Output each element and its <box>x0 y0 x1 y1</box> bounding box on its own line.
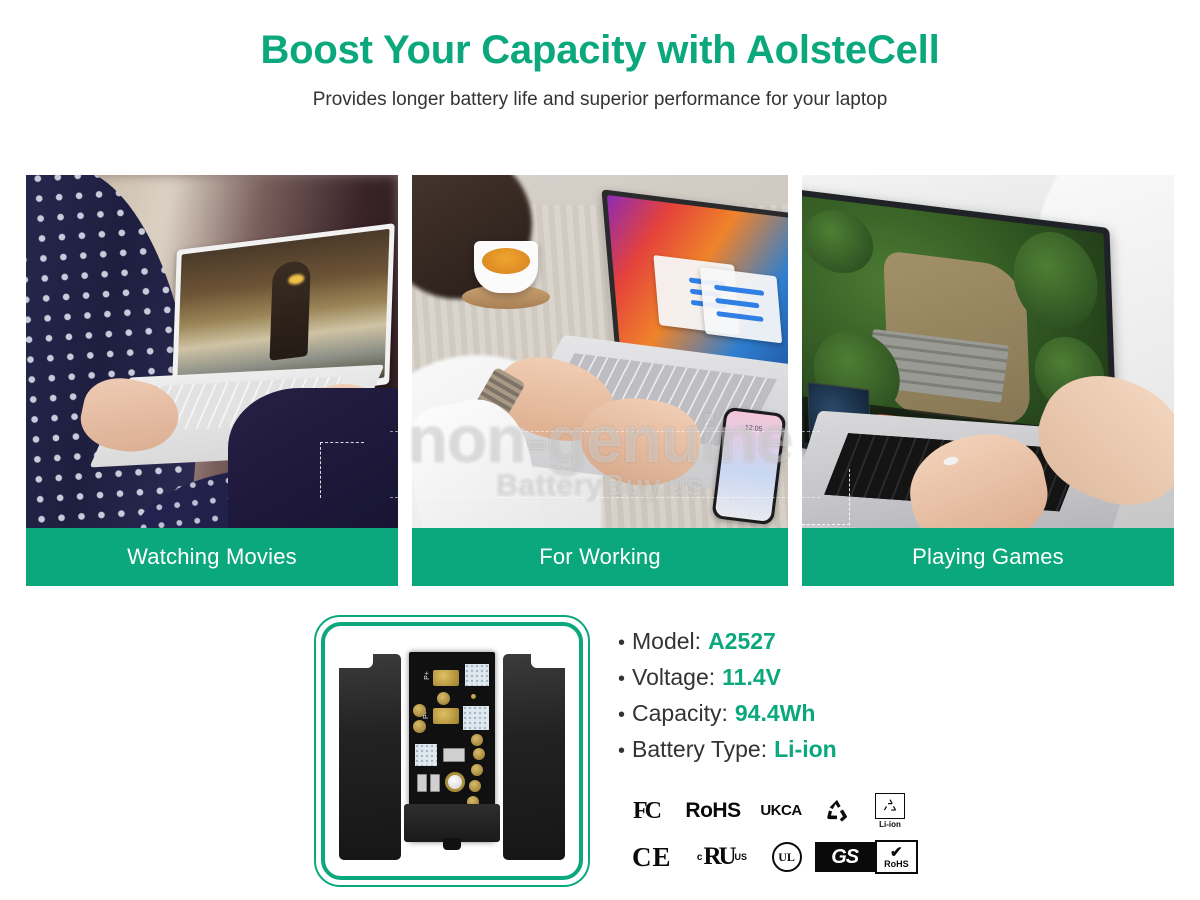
caption-for-working: For Working <box>412 528 788 586</box>
tea-cup <box>474 241 538 293</box>
use-case-panels: Watching Movies <box>26 175 1174 586</box>
spec-row-capacity: • Capacity: 94.4Wh <box>618 702 1038 725</box>
via-hole <box>437 692 450 705</box>
li-ion-caption: Li-ion <box>879 820 901 829</box>
ring-icon <box>943 456 959 467</box>
game-tree <box>802 206 874 277</box>
via-hole <box>471 694 476 699</box>
battery-connector-tab <box>404 804 500 842</box>
bullet-icon: • <box>618 741 625 761</box>
pcb-label-p-plus: P+ <box>424 671 431 680</box>
battery-cell-left <box>339 654 401 860</box>
bullet-icon: • <box>618 705 625 725</box>
rohs-icon: RoHS <box>674 799 752 823</box>
checkmark-icon: ✔ <box>890 845 903 860</box>
gs-icon: GS <box>815 842 875 872</box>
battery-connector-nub <box>443 838 461 850</box>
spec-value: A2527 <box>708 630 776 653</box>
specification-list: • Model: A2527 • Voltage: 11.4V • Capaci… <box>618 630 1038 774</box>
li-ion-recycle-icon: Li-ion <box>864 793 916 829</box>
use-case-card-playing-games[interactable]: Playing Games <box>802 175 1174 586</box>
spec-value: Li-ion <box>774 738 837 761</box>
rohs-check-icon: ✔ RoHS <box>875 840 918 874</box>
battery-cell-right <box>503 654 565 860</box>
certification-row-1: FC RoHS UK CA Li-ion <box>618 788 918 834</box>
crus-suffix: US <box>735 852 748 862</box>
chat-bubble <box>714 284 765 295</box>
product-image: P+ P- <box>321 622 583 880</box>
contact-pad <box>469 780 481 792</box>
chat-bubble <box>716 311 764 322</box>
spec-row-model: • Model: A2527 <box>618 630 1038 653</box>
spec-label: Battery Type: <box>632 738 767 761</box>
spec-row-battery-type: • Battery Type: Li-ion <box>618 738 1038 761</box>
use-case-card-watching-movies[interactable]: Watching Movies <box>26 175 398 586</box>
bullet-icon: • <box>618 633 625 653</box>
page-subtitle: Provides longer battery life and superio… <box>0 89 1200 111</box>
spec-label: Capacity: <box>632 702 728 725</box>
contact-pad <box>473 748 485 760</box>
product-marketing-page: Boost Your Capacity with AolsteCell Prov… <box>0 0 1200 900</box>
ul-icon: UL <box>759 842 815 872</box>
page-title: Boost Your Capacity with AolsteCell <box>0 28 1200 73</box>
app-window-secondary <box>700 267 782 344</box>
crop-marker <box>802 469 850 525</box>
chat-bubble <box>715 298 760 309</box>
tea-liquid <box>482 248 530 274</box>
solder-pad <box>433 670 459 686</box>
spec-value: 94.4Wh <box>735 702 816 725</box>
caption-watching-movies: Watching Movies <box>26 528 398 586</box>
movie-character <box>269 259 310 360</box>
contact-pad <box>413 720 426 733</box>
ukca-line-2: CA <box>781 804 802 818</box>
contact-pad <box>471 764 483 776</box>
use-case-card-for-working[interactable]: 12:05 For Working <box>412 175 788 586</box>
crop-marker <box>320 442 364 498</box>
bullet-icon: • <box>618 669 625 689</box>
caption-playing-games: Playing Games <box>802 528 1174 586</box>
fcc-icon: FC <box>618 798 674 825</box>
rohs-check-caption: RoHS <box>884 860 909 869</box>
solder-pad <box>433 708 459 724</box>
crus-main: RU <box>703 843 733 871</box>
photo-watching-movies <box>26 175 398 528</box>
spec-label: Model: <box>632 630 701 653</box>
spec-value: 11.4V <box>722 666 781 689</box>
mesh-pad <box>465 664 489 686</box>
photo-playing-games <box>802 175 1174 528</box>
page-header: Boost Your Capacity with AolsteCell Prov… <box>0 0 1200 111</box>
spec-label: Voltage: <box>632 666 715 689</box>
li-ion-recycle-box <box>875 793 905 819</box>
test-point <box>445 772 465 792</box>
phone-screen: 12:05 <box>715 410 784 522</box>
ul-circle: UL <box>772 842 802 872</box>
product-image-frame: P+ P- <box>314 615 590 887</box>
pcb-label-p-minus: P- <box>423 712 430 719</box>
crus-prefix: c <box>697 852 703 863</box>
ce-icon: CE <box>618 842 685 873</box>
photo-for-working: 12:05 <box>412 175 788 528</box>
lap-clothing <box>228 388 398 528</box>
c-ru-us-icon: c RU US <box>685 843 758 871</box>
recycle-icon <box>810 797 864 825</box>
spec-row-voltage: • Voltage: 11.4V <box>618 666 1038 689</box>
capacitor <box>417 774 427 792</box>
certification-marks: FC RoHS UK CA Li-ion <box>618 788 918 880</box>
mesh-pad <box>415 744 437 766</box>
contact-pad <box>471 734 483 746</box>
ukca-line-1: UK <box>760 804 781 818</box>
mesh-pad <box>463 706 489 730</box>
ukca-icon: UK CA <box>752 804 810 818</box>
capacitor <box>430 774 440 792</box>
ic-chip <box>443 748 465 762</box>
certification-row-2: CE c RU US UL GS ✔ RoHS <box>618 834 918 880</box>
